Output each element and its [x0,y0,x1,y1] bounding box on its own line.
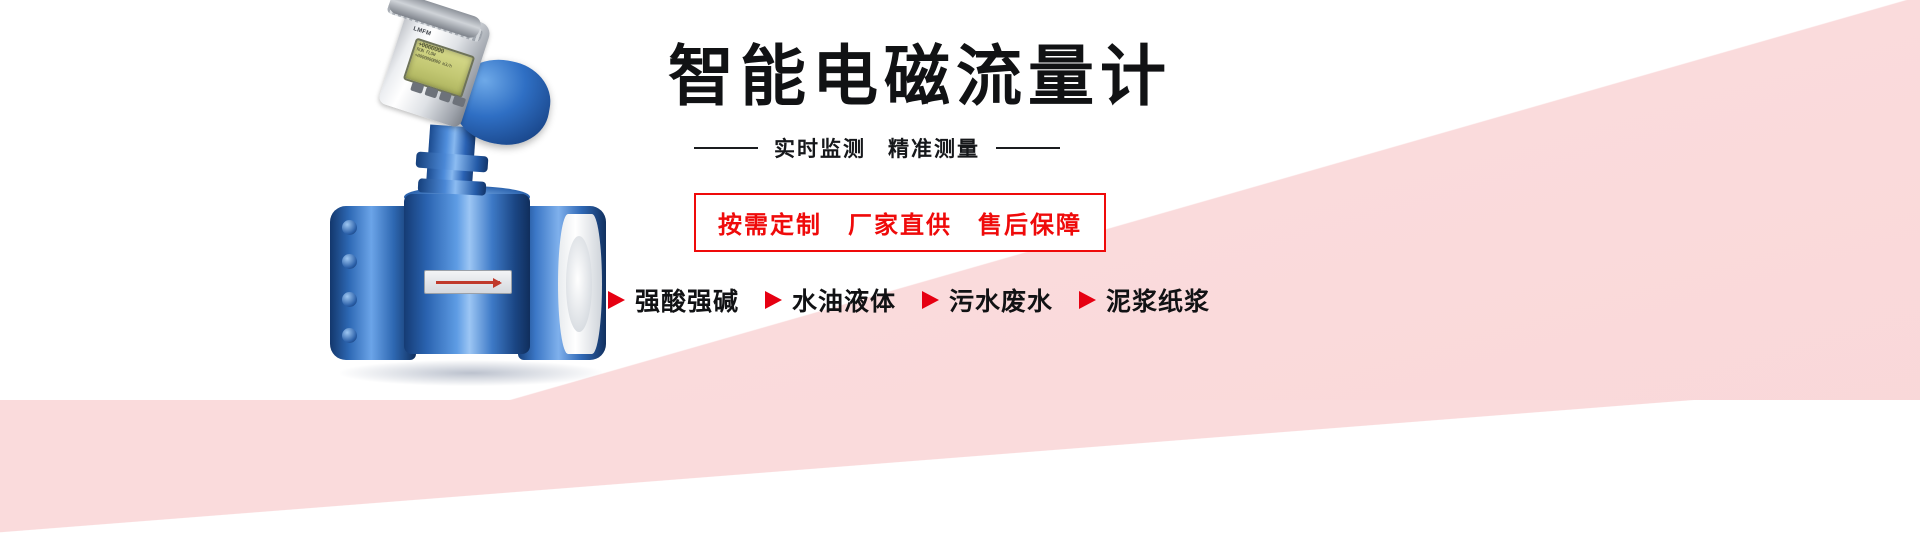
flange-bolt [342,254,357,269]
promise-badge-text: 按需定制厂家直供售后保障 [718,205,1082,240]
feature-label: 泥浆纸浆 [1106,282,1210,318]
feature-list: 强酸强碱 水油液体 污水废水 泥浆纸浆 [608,282,1360,318]
pipe-bore [566,236,592,332]
feature-label: 强酸强碱 [635,282,739,318]
flow-direction-plate [424,270,512,294]
flange-bolt [342,220,357,235]
banner-title: 智能电磁流量计 [668,40,1360,113]
badge-item-1: 按需定制 [718,212,822,239]
flow-arrow-icon [436,281,500,284]
rule-right [996,147,1060,149]
feature-label: 污水废水 [949,282,1053,318]
flange-bolt [342,328,357,343]
diagonal-pink-band-lower [0,400,1920,550]
arrow-right-icon [922,291,939,309]
feature-item: 污水废水 [922,282,1053,318]
subtitle-item-2: 精准测量 [888,138,980,161]
feature-label: 水油液体 [792,282,896,318]
flowmeter-product-image: LMFM +0000000 RUN FLOW +0000000000 m3/h [330,8,660,453]
product-shadow [340,360,602,386]
product-banner: LMFM +0000000 RUN FLOW +0000000000 m3/h … [0,0,1920,550]
banner-subtitle-row: 实时监测精准测量 [694,133,1360,163]
arrow-right-icon [608,291,625,309]
flange-bolt [342,292,357,307]
banner-text-block: 智能电磁流量计 实时监测精准测量 按需定制厂家直供售后保障 强酸强碱 水油液体 [660,40,1360,318]
feature-item: 水油液体 [765,282,896,318]
feature-item: 泥浆纸浆 [1079,282,1210,318]
rule-left [694,147,758,149]
banner-subtitle: 实时监测精准测量 [774,133,980,163]
arrow-right-icon [1079,291,1096,309]
badge-item-2: 厂家直供 [848,212,952,239]
badge-item-3: 售后保障 [978,212,1082,239]
promise-badge-box: 按需定制厂家直供售后保障 [694,193,1106,252]
subtitle-item-1: 实时监测 [774,138,866,161]
arrow-right-icon [765,291,782,309]
feature-item: 强酸强碱 [608,282,739,318]
